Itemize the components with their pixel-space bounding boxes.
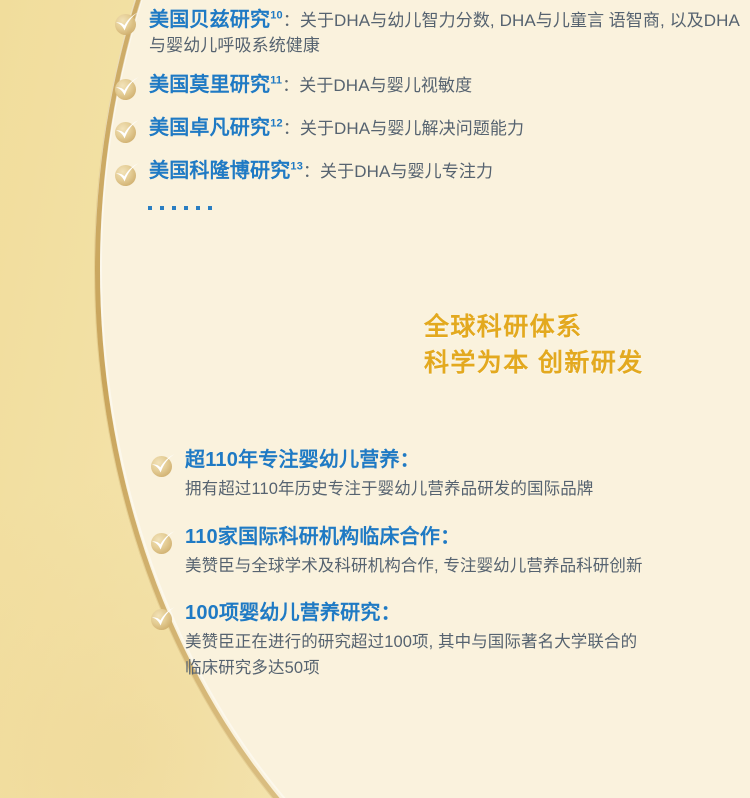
study-item: 美国科隆博研究13：关于DHA与婴儿专注力	[112, 157, 742, 188]
feature-title: 100项婴幼儿营养研究：	[185, 601, 728, 625]
feature-body: 110家国际科研机构临床合作： 美赞臣与全球学术及科研机构合作, 专注婴幼儿营养…	[185, 525, 728, 580]
check-icon	[112, 160, 142, 188]
study-item: 美国卓凡研究12：关于DHA与婴儿解决问题能力	[112, 114, 742, 145]
study-title: 美国莫里研究11	[149, 74, 282, 96]
check-icon	[112, 9, 142, 37]
ellipsis-dot	[148, 206, 152, 210]
ellipsis-dot	[196, 206, 200, 210]
study-superscript: 12	[270, 117, 283, 129]
study-list: 美国贝兹研究10：关于DHA与幼儿智力分数, DHA与儿童言 语智商, 以及DH…	[112, 6, 742, 200]
study-text: 美国科隆博研究13：关于DHA与婴儿专注力	[149, 157, 742, 185]
check-icon	[112, 117, 142, 145]
poster-content: 美国贝兹研究10：关于DHA与幼儿智力分数, DHA与儿童言 语智商, 以及DH…	[0, 0, 750, 798]
ellipsis-dot	[160, 206, 164, 210]
feature-desc-line1: 拥有超过110年历史专注于婴幼儿营养品研发的国际品牌	[185, 477, 728, 503]
study-title: 美国贝兹研究10	[149, 9, 283, 31]
check-icon	[112, 74, 142, 102]
ellipsis-dots	[148, 206, 212, 210]
study-superscript: 13	[290, 160, 303, 172]
feature-item: 110家国际科研机构临床合作： 美赞臣与全球学术及科研机构合作, 专注婴幼儿营养…	[148, 525, 728, 580]
study-superscript: 11	[270, 74, 282, 86]
promo-poster: 美国贝兹研究10：关于DHA与幼儿智力分数, DHA与儿童言 语智商, 以及DH…	[0, 0, 750, 798]
study-title: 美国卓凡研究12	[149, 117, 283, 139]
study-text: 美国贝兹研究10：关于DHA与幼儿智力分数, DHA与儿童言 语智商, 以及DH…	[149, 6, 742, 59]
study-item: 美国贝兹研究10：关于DHA与幼儿智力分数, DHA与儿童言 语智商, 以及DH…	[112, 6, 742, 59]
study-superscript: 10	[270, 9, 283, 21]
study-desc: 关于DHA与婴儿专注力	[320, 162, 493, 181]
feature-desc: 美赞臣与全球学术及科研机构合作, 专注婴幼儿营养品科研创新	[185, 554, 728, 580]
feature-desc: 拥有超过110年历史专注于婴幼儿营养品研发的国际品牌	[185, 477, 728, 503]
ellipsis-dot	[172, 206, 176, 210]
check-icon	[148, 451, 178, 479]
feature-desc-line1: 美赞臣与全球学术及科研机构合作, 专注婴幼儿营养品科研创新	[185, 554, 728, 580]
feature-item: 超110年专注婴幼儿营养： 拥有超过110年历史专注于婴幼儿营养品研发的国际品牌	[148, 448, 728, 503]
study-colon: ：	[283, 119, 300, 138]
ellipsis-dot	[184, 206, 188, 210]
feature-list: 超110年专注婴幼儿营养： 拥有超过110年历史专注于婴幼儿营养品研发的国际品牌…	[148, 448, 728, 704]
feature-item: 100项婴幼儿营养研究： 美赞臣正在进行的研究超过100项, 其中与国际著名大学…	[148, 601, 728, 681]
study-colon: ：	[303, 162, 320, 181]
ellipsis-dot	[208, 206, 212, 210]
check-icon	[148, 528, 178, 556]
study-item: 美国莫里研究11：关于DHA与婴儿视敏度	[112, 71, 742, 102]
feature-desc-line1: 美赞臣正在进行的研究超过100项, 其中与国际著名大学联合的	[185, 630, 728, 656]
feature-desc-line2: 临床研究多达50项	[185, 656, 728, 682]
study-desc: 关于DHA与幼儿智力分数, DHA与儿童言	[300, 11, 604, 30]
study-colon: ：	[283, 11, 300, 30]
feature-body: 超110年专注婴幼儿营养： 拥有超过110年历史专注于婴幼儿营养品研发的国际品牌	[185, 448, 728, 503]
study-colon: ：	[282, 76, 299, 95]
feature-title: 110家国际科研机构临床合作：	[185, 525, 728, 549]
feature-title: 超110年专注婴幼儿营养：	[185, 448, 728, 472]
check-icon	[148, 604, 178, 632]
feature-body: 100项婴幼儿营养研究： 美赞臣正在进行的研究超过100项, 其中与国际著名大学…	[185, 601, 728, 681]
banner-headline-line1: 全球科研体系	[424, 310, 644, 346]
study-desc: 关于DHA与婴儿解决问题能力	[300, 119, 524, 138]
banner-headline: 全球科研体系 科学为本 创新研发	[424, 310, 644, 381]
study-text: 美国卓凡研究12：关于DHA与婴儿解决问题能力	[149, 114, 742, 142]
banner-headline-line2: 科学为本 创新研发	[424, 346, 644, 382]
study-text: 美国莫里研究11：关于DHA与婴儿视敏度	[149, 71, 742, 99]
study-title: 美国科隆博研究13	[149, 160, 303, 182]
feature-desc: 美赞臣正在进行的研究超过100项, 其中与国际著名大学联合的 临床研究多达50项	[185, 630, 728, 681]
study-desc: 关于DHA与婴儿视敏度	[299, 76, 472, 95]
